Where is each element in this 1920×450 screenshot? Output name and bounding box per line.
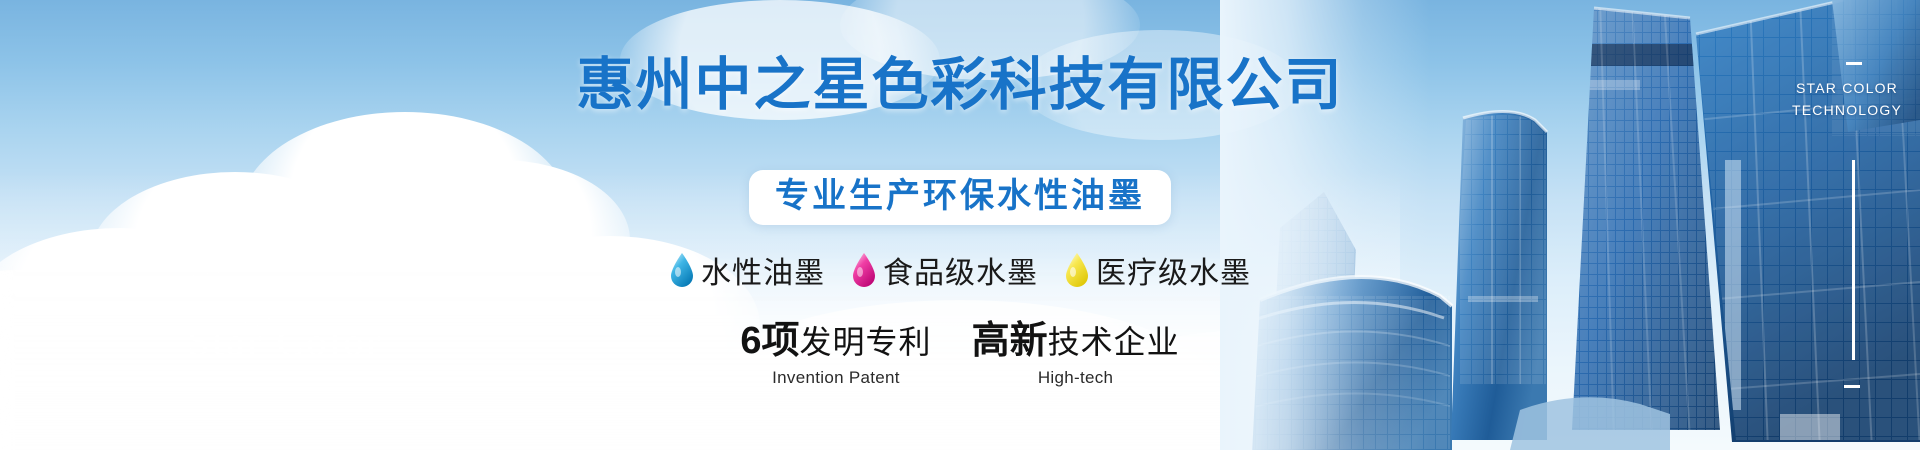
feature-label: 水性油墨 <box>701 248 825 292</box>
water-drop-icon <box>851 252 877 288</box>
badge-chinese-text: 高新技术企业 <box>972 322 1180 362</box>
feature-label: 食品级水墨 <box>883 248 1038 292</box>
badge-invention-patent: 6项发明专利 Invention Patent <box>740 322 931 388</box>
badge-light-text: 技术企业 <box>1048 324 1180 360</box>
promo-banner: Star Color <box>0 0 1920 450</box>
banner-content: 惠州中之星色彩科技有限公司 专业生产环保水性油墨 水性油 <box>0 0 1920 450</box>
water-drop-icon <box>669 252 695 288</box>
badge-english-text: Invention Patent <box>740 368 931 388</box>
credential-badges: 6项发明专利 Invention Patent 高新技术企业 High-tech <box>740 322 1179 388</box>
badge-strong-text: 高新 <box>972 320 1048 362</box>
feature-list: 水性油墨 食品级水墨 <box>669 248 1251 292</box>
water-drop-icon <box>1064 252 1090 288</box>
company-headline: 惠州中之星色彩科技有限公司 <box>577 57 1344 114</box>
badge-chinese-text: 6项发明专利 <box>740 322 931 362</box>
feature-item-medical-grade: 医疗级水墨 <box>1064 248 1251 292</box>
feature-item-food-grade: 食品级水墨 <box>851 248 1038 292</box>
badge-english-text: High-tech <box>972 368 1180 388</box>
feature-item-water-ink: 水性油墨 <box>669 248 825 292</box>
feature-label: 医疗级水墨 <box>1096 248 1251 292</box>
badge-high-tech: 高新技术企业 High-tech <box>972 322 1180 388</box>
subtitle-text: 专业生产环保水性油墨 <box>775 177 1145 215</box>
badge-strong-text: 6项 <box>740 320 799 362</box>
badge-light-text: 发明专利 <box>800 324 932 360</box>
subtitle-pill: 专业生产环保水性油墨 <box>749 170 1171 225</box>
